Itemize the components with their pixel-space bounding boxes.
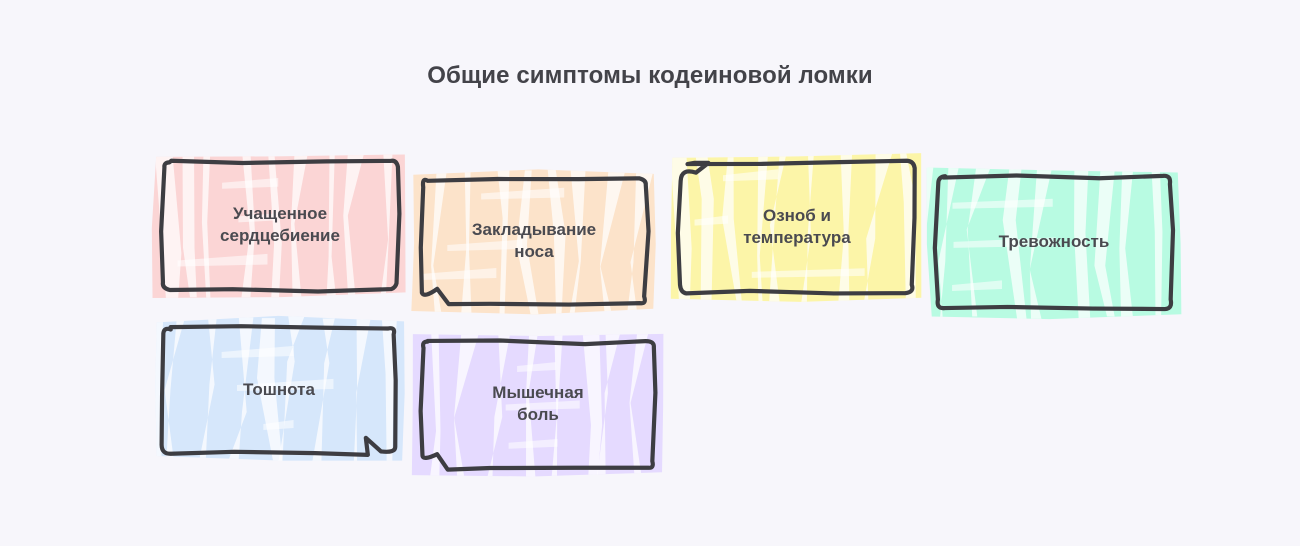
symptom-card-peach: Закладывание носа <box>422 179 646 303</box>
symptom-card-blue: Тошнота <box>163 327 395 453</box>
symptom-card-label: Озноб и температура <box>680 162 914 292</box>
symptom-card-label: Тошнота <box>163 327 395 453</box>
symptom-card-label: Мышечная боль <box>422 341 654 467</box>
symptom-card-label: Закладывание носа <box>422 179 646 303</box>
symptom-card-lavender: Мышечная боль <box>422 341 654 467</box>
symptom-card-label: Учащенное сердцебиение <box>163 161 397 289</box>
symptom-card-label: Тревожность <box>937 176 1171 308</box>
page-title: Общие симптомы кодеиновой ломки <box>0 62 1300 90</box>
symptom-card-yellow: Озноб и температура <box>680 162 914 292</box>
symptom-card-pink: Учащенное сердцебиение <box>163 161 397 289</box>
symptom-card-mint: Тревожность <box>937 176 1171 308</box>
infographic-canvas: Общие симптомы кодеиновой ломки Учащенно… <box>0 0 1300 546</box>
